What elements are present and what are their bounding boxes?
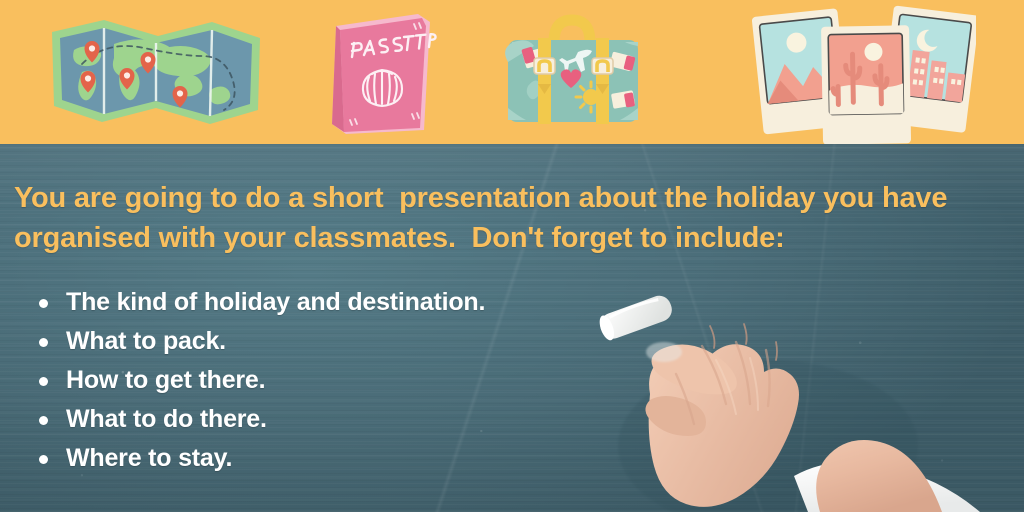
list-item: The kind of holiday and destination. [28, 283, 628, 322]
instruction-list: The kind of holiday and destination. Wha… [28, 283, 628, 478]
list-item: Where to stay. [28, 439, 628, 478]
folded-world-map-icon [48, 14, 264, 130]
page-title: You are going to do a short presentation… [14, 178, 1012, 258]
list-item: What to pack. [28, 322, 628, 361]
banner [0, 0, 1024, 144]
list-item: How to get there. [28, 361, 628, 400]
passport-icon [326, 12, 442, 136]
slide-canvas: You are going to do a short presentation… [0, 0, 1024, 512]
suitcase-icon [492, 8, 654, 138]
list-item: What to do there. [28, 400, 628, 439]
polaroid-photos-icon [752, 4, 976, 144]
